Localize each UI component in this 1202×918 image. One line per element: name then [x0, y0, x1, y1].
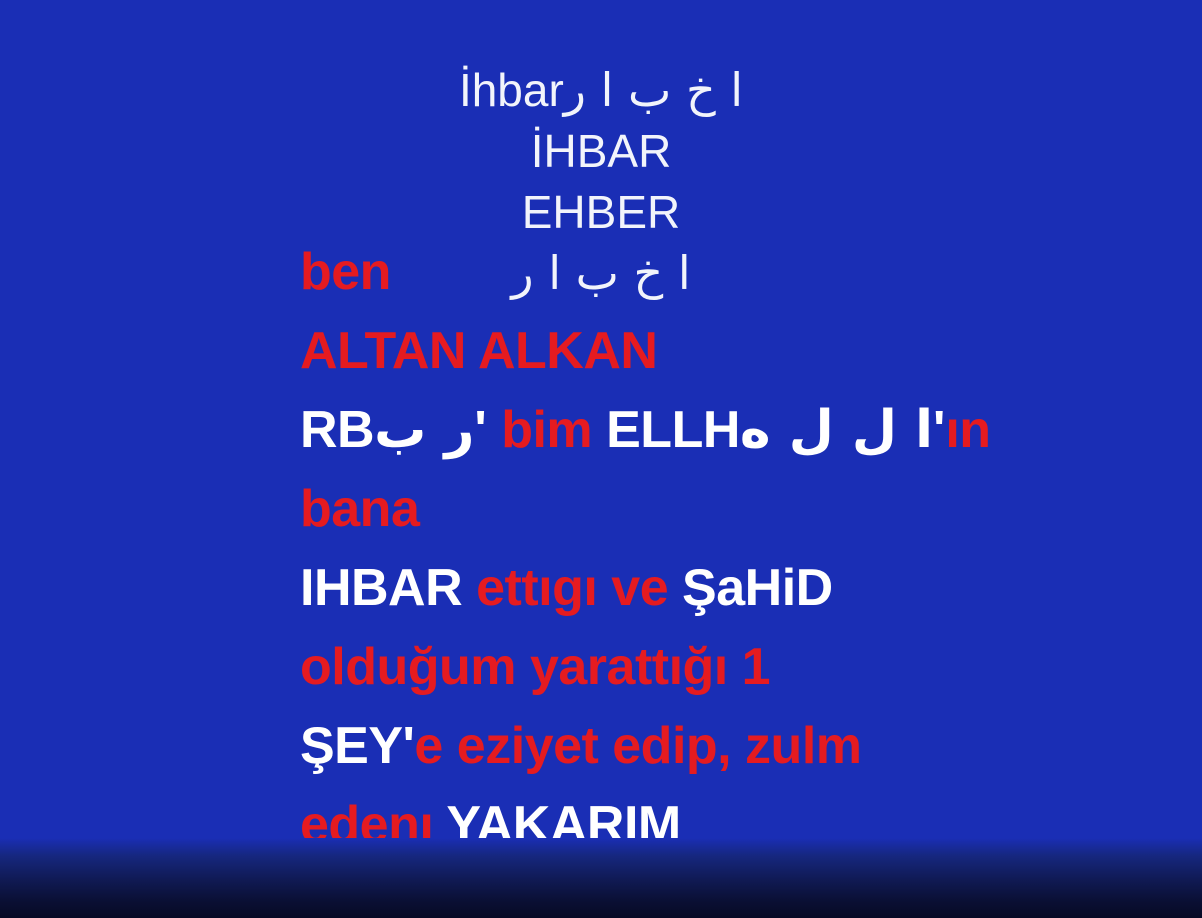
body-line-7-seg-sey: ŞEY'	[300, 717, 414, 775]
heading-line-1-arabic: ا خ ب ا ر	[564, 63, 743, 117]
body-line-5: IHBAR ettıgı ve ŞaHiD	[300, 549, 1190, 628]
heading-line-1-latin: İhbar	[459, 64, 564, 116]
body-line-4: bana	[300, 470, 1190, 549]
body-line-5-seg-sahid: ŞaHiD	[668, 559, 833, 617]
body-line-6-seg-red: olduğum yarattığı 1	[300, 638, 770, 696]
body-line-3-seg-ellh: ELLH	[592, 401, 740, 459]
body-line-2-seg-red: ALTAN ALKAN	[300, 322, 657, 380]
body-line-3-seg-apostrophe-2: '	[933, 401, 945, 459]
body-line-5-seg-ettigi-ve: ettıgı ve	[476, 559, 668, 617]
body-line-2: ALTAN ALKAN	[300, 312, 1190, 391]
body-line-7-seg-red: e eziyet edip, zulm	[414, 717, 861, 775]
body-line-3: RBر ب' bim ELLHا ل ل ه'ın	[300, 391, 1190, 470]
heading-line-2: İHBAR	[0, 121, 1202, 182]
body-line-3-seg-rb: RB	[300, 401, 374, 459]
body-line-3-seg-arabic-rab: ر ب	[374, 400, 474, 460]
body-line-3-seg-in: ın	[945, 401, 990, 459]
bottom-gradient-band	[0, 838, 1202, 918]
body-line-7: ŞEY'e eziyet edip, zulm	[300, 707, 1190, 786]
body-line-3-seg-bim: bim	[501, 401, 592, 459]
body-text-block: ben ALTAN ALKAN RBر ب' bim ELLHا ل ل ه'ı…	[300, 233, 1190, 865]
slide-canvas: İhbarا خ ب ا ر İHBAR EHBER ا خ ب ا ر ben…	[0, 0, 1202, 918]
body-line-4-seg-red: bana	[300, 480, 419, 538]
body-line-1-seg-red: ben	[300, 243, 391, 301]
body-line-3-seg-apostrophe-1: '	[474, 401, 501, 459]
body-line-5-seg-ihbar: IHBAR	[300, 559, 476, 617]
body-line-6: olduğum yarattığı 1	[300, 628, 1190, 707]
heading-line-1: İhbarا خ ب ا ر	[0, 60, 1202, 121]
body-line-1: ben	[300, 233, 1190, 312]
body-line-3-seg-arabic-allah: ا ل ل ه	[740, 400, 933, 460]
